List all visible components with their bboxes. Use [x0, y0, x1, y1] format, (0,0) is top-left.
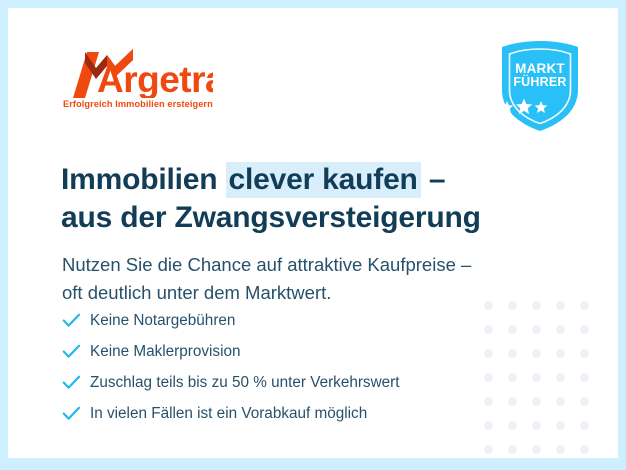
dot — [556, 421, 565, 430]
dot — [532, 349, 541, 358]
dot — [532, 325, 541, 334]
dot — [556, 445, 565, 454]
page-title: Immobilien clever kaufen – aus der Zwang… — [61, 161, 581, 237]
logo-tagline: Erfolgreich Immobilien ersteigern — [63, 99, 213, 109]
headline-suffix: – — [421, 163, 446, 196]
banner-card: Argetra Erfolgreich Immobilien ersteiger… — [8, 8, 618, 458]
dot — [556, 397, 565, 406]
argetra-roof-a-logo-icon: Argetra — [63, 46, 213, 98]
headline-line-1: Immobilien clever kaufen – — [61, 162, 445, 198]
subtitle-line-2: oft deutlich unter dem Marktwert. — [62, 282, 331, 303]
shield-badge-icon — [498, 40, 582, 132]
dot — [580, 421, 589, 430]
dot — [508, 397, 517, 406]
dot — [532, 397, 541, 406]
benefit-label: Keine Notargebühren — [90, 312, 235, 330]
dot — [580, 349, 589, 358]
dot — [532, 373, 541, 382]
dot-grid-decoration — [484, 301, 604, 458]
dot — [508, 421, 517, 430]
dot — [580, 325, 589, 334]
dot — [508, 445, 517, 454]
dot — [532, 421, 541, 430]
check-icon — [62, 344, 90, 359]
check-icon — [62, 375, 90, 390]
dot — [508, 325, 517, 334]
svg-text:Argetra: Argetra — [97, 59, 213, 98]
headline-highlight: clever kaufen — [226, 162, 421, 198]
dot — [556, 373, 565, 382]
dot — [556, 349, 565, 358]
benefit-list: Keine Notargebühren Keine Maklerprovisio… — [62, 305, 399, 429]
dot — [580, 397, 589, 406]
dot — [580, 445, 589, 454]
dot — [484, 325, 493, 334]
headline-line-2: aus der Zwangsversteigerung — [61, 201, 481, 234]
list-item: Keine Notargebühren — [62, 305, 399, 336]
check-icon — [62, 313, 90, 328]
promo-banner: Argetra Erfolgreich Immobilien ersteiger… — [0, 0, 626, 470]
check-icon — [62, 406, 90, 421]
dot — [484, 445, 493, 454]
dot — [508, 349, 517, 358]
dot — [580, 373, 589, 382]
dot — [484, 373, 493, 382]
argetra-logo[interactable]: Argetra Erfolgreich Immobilien ersteiger… — [63, 46, 213, 109]
benefit-label: Keine Maklerprovision — [90, 343, 241, 361]
markt-fuehrer-badge: MARKT FÜHRER — [498, 40, 582, 132]
dot — [508, 373, 517, 382]
dot — [484, 349, 493, 358]
list-item: Zuschlag teils bis zu 50 % unter Verkehr… — [62, 367, 399, 398]
dot — [484, 421, 493, 430]
dot — [484, 397, 493, 406]
subtitle: Nutzen Sie die Chance auf attraktive Kau… — [62, 251, 582, 307]
headline-prefix: Immobilien — [61, 163, 226, 196]
logo-mark-row: Argetra — [63, 46, 213, 98]
list-item: In vielen Fällen ist ein Vorabkauf mögli… — [62, 398, 399, 429]
subtitle-line-1: Nutzen Sie die Chance auf attraktive Kau… — [62, 254, 471, 275]
list-item: Keine Maklerprovision — [62, 336, 399, 367]
benefit-label: Zuschlag teils bis zu 50 % unter Verkehr… — [90, 374, 399, 392]
dot — [532, 445, 541, 454]
dot — [556, 325, 565, 334]
benefit-label: In vielen Fällen ist ein Vorabkauf mögli… — [90, 405, 367, 423]
